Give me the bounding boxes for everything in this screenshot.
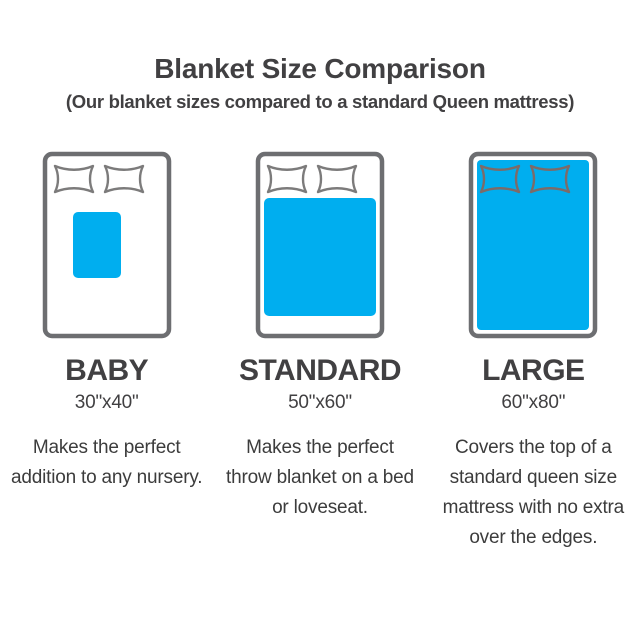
size-label-large: LARGE [482, 354, 585, 388]
comparison-column-standard: STANDARD 50"x60" Makes the perfect throw… [213, 140, 426, 523]
page-subtitle: (Our blanket sizes compared to a standar… [0, 89, 640, 115]
bed-diagram-standard [250, 140, 390, 340]
header: Blanket Size Comparison (Our blanket siz… [0, 52, 640, 115]
comparison-column-baby: BABY 30"x40" Makes the perfect addition … [0, 140, 213, 493]
comparison-columns: BABY 30"x40" Makes the perfect addition … [0, 140, 640, 553]
bed-diagram-large [463, 140, 603, 340]
size-dimensions-large: 60"x80" [501, 391, 565, 415]
pillow-icon [318, 166, 356, 192]
size-label-standard: STANDARD [239, 354, 401, 388]
blanket-size-comparison-infographic: Blanket Size Comparison (Our blanket siz… [0, 0, 640, 640]
blanket-shape-standard [264, 198, 376, 316]
comparison-column-large: LARGE 60"x80" Covers the top of a standa… [427, 140, 640, 553]
page-title: Blanket Size Comparison [0, 52, 640, 86]
bed-diagram-baby [37, 140, 177, 340]
size-dimensions-standard: 50"x60" [288, 391, 352, 415]
size-label-baby: BABY [65, 354, 148, 388]
pillow-icon [105, 166, 143, 192]
pillow-icon [55, 166, 93, 192]
blanket-shape-baby [73, 212, 121, 278]
size-description-standard: Makes the perfect throw blanket on a bed… [222, 433, 418, 523]
size-dimensions-baby: 30"x40" [75, 391, 139, 415]
size-description-baby: Makes the perfect addition to any nurser… [9, 433, 205, 493]
size-description-large: Covers the top of a standard queen size … [435, 433, 631, 553]
pillow-icon [268, 166, 306, 192]
